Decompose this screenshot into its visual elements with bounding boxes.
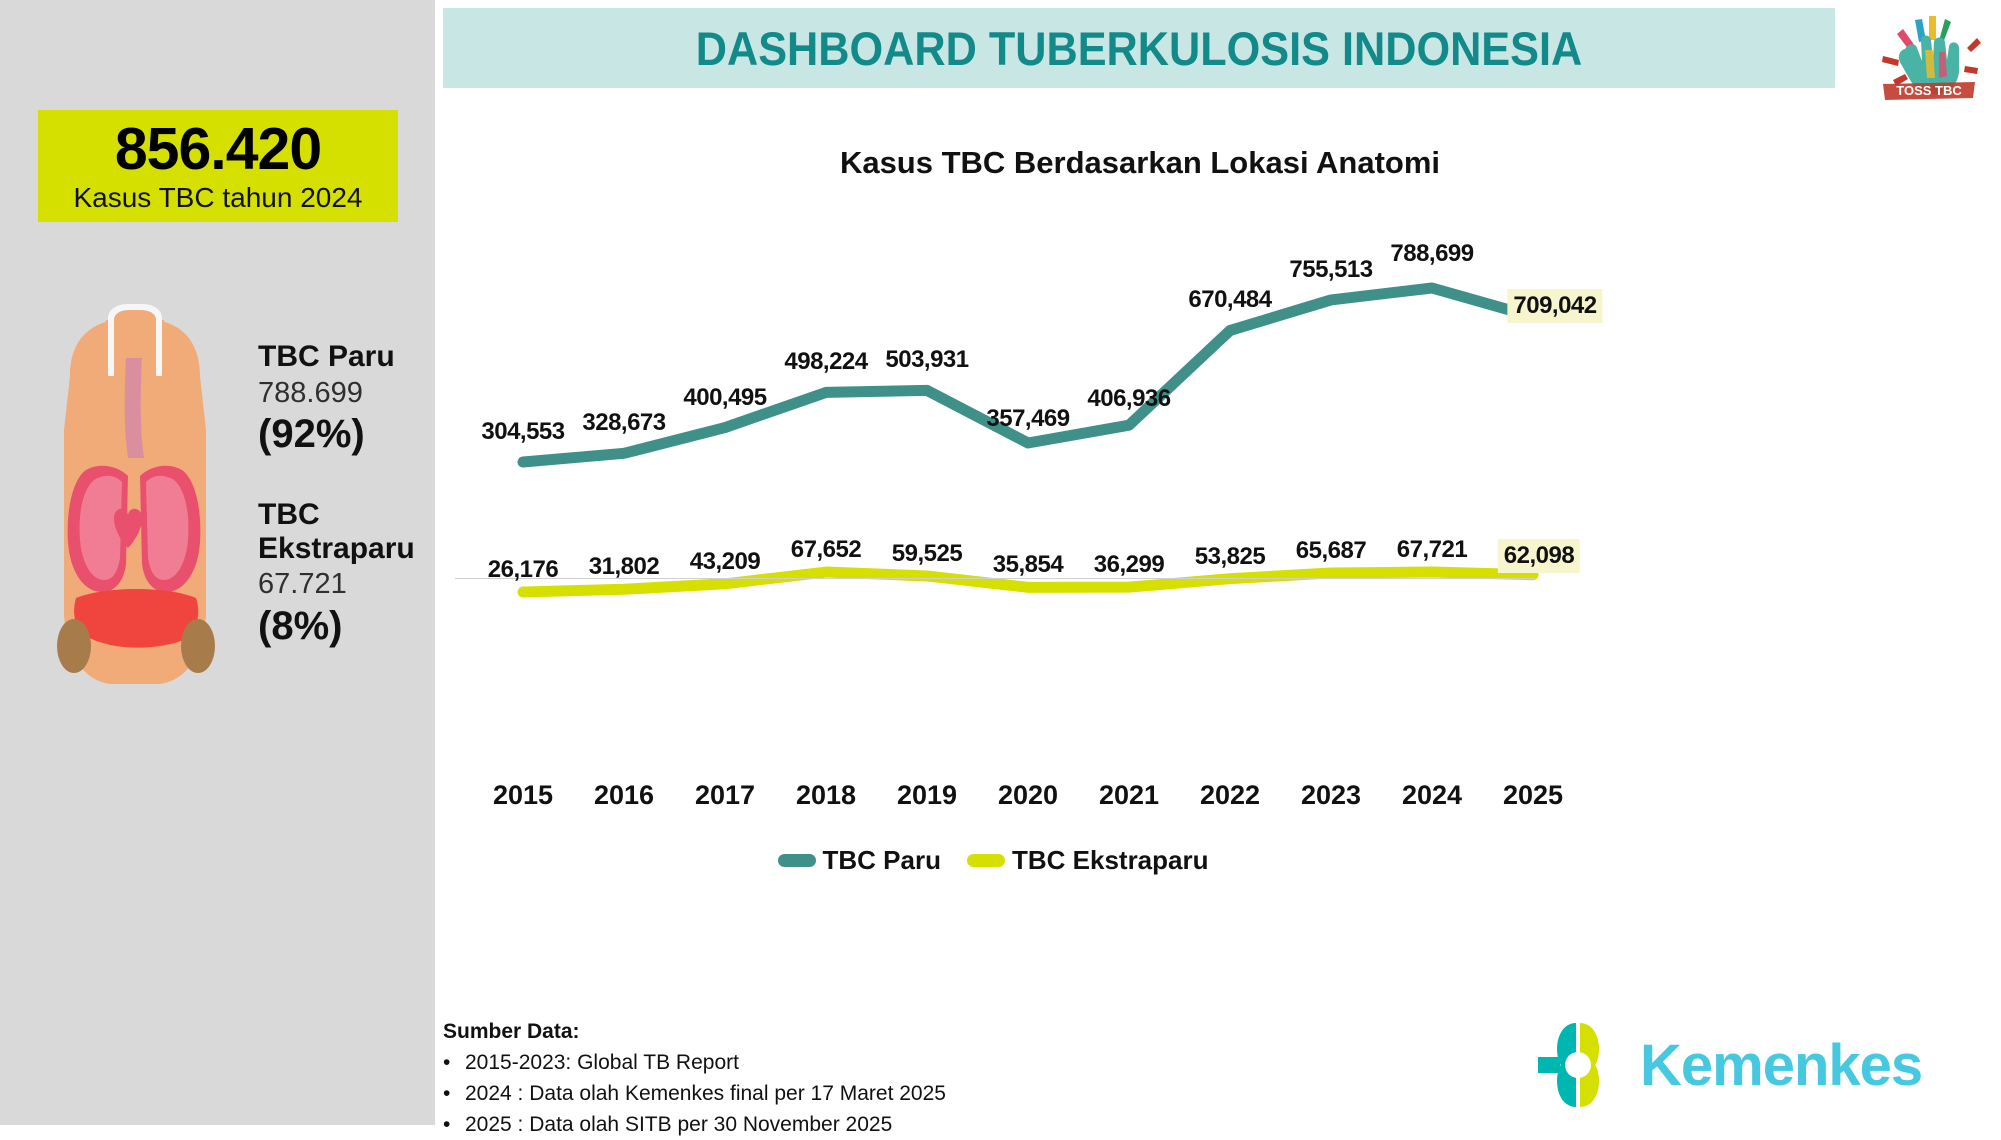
- page-title: DASHBOARD TUBERKULOSIS INDONESIA: [499, 8, 1780, 88]
- sidebar: 856.420 Kasus TBC tahun 2024 TBC Paru 78…: [0, 0, 435, 1125]
- data-label-tbc-paru-2022: 670,484: [1188, 286, 1271, 314]
- breakdown-paru-value: 788.699: [258, 376, 438, 411]
- data-label-tbc-paru-2021: 406,936: [1087, 385, 1170, 413]
- source-item-text: 2015-2023: Global TB Report: [465, 1047, 739, 1078]
- data-label-tbc-ekstraparu-2021: 36,299: [1094, 551, 1164, 579]
- data-label-tbc-ekstraparu-2016: 31,802: [589, 553, 659, 581]
- legend-item-tbc-ekstraparu[interactable]: TBC Ekstraparu: [967, 845, 1209, 876]
- source-item-text: 2024 : Data olah Kemenkes final per 17 M…: [465, 1078, 946, 1109]
- breakdown-paru-title: TBC Paru: [258, 340, 438, 374]
- data-label-tbc-paru-2016: 328,673: [582, 409, 665, 437]
- x-axis-label-2020: 2020: [998, 780, 1058, 811]
- x-axis-label-2025: 2025: [1503, 780, 1563, 811]
- human-torso-lungs-illustration: [10, 280, 260, 700]
- toss-tbc-hand-logo: TOSS TBC: [1875, 4, 1985, 109]
- data-label-tbc-paru-2015: 304,553: [481, 418, 564, 446]
- data-label-tbc-ekstraparu-2024: 67,721: [1397, 536, 1467, 564]
- x-axis-label-2021: 2021: [1099, 780, 1159, 811]
- kpi-caption: Kasus TBC tahun 2024: [73, 183, 362, 214]
- source-item: •2015-2023: Global TB Report: [443, 1047, 1343, 1078]
- svg-text:TOSS TBC: TOSS TBC: [1896, 83, 1962, 98]
- source-item: •2024 : Data olah Kemenkes final per 17 …: [443, 1078, 1343, 1109]
- data-label-tbc-ekstraparu-2017: 43,209: [690, 548, 760, 576]
- bullet-icon: •: [443, 1047, 465, 1078]
- data-label-tbc-ekstraparu-2025: 62,098: [1498, 539, 1580, 573]
- data-label-tbc-paru-2023: 755,513: [1289, 256, 1372, 284]
- data-label-tbc-paru-2020: 357,469: [986, 405, 1069, 433]
- chart-legend: TBC Paru TBC Ekstraparu: [443, 845, 1543, 876]
- source-data-block: Sumber Data: •2015-2023: Global TB Repor…: [443, 1020, 1343, 1140]
- kpi-number: 856.420: [115, 119, 321, 181]
- x-axis-label-2023: 2023: [1301, 780, 1361, 811]
- x-axis-label-2022: 2022: [1200, 780, 1260, 811]
- breakdown-ekstraparu-value: 67.721: [258, 567, 438, 602]
- source-list: •2015-2023: Global TB Report•2024 : Data…: [443, 1047, 1343, 1140]
- x-axis-label-2017: 2017: [695, 780, 755, 811]
- data-label-tbc-ekstraparu-2019: 59,525: [892, 540, 962, 568]
- data-label-tbc-paru-2017: 400,495: [683, 384, 766, 412]
- data-label-tbc-ekstraparu-2015: 26,176: [488, 556, 558, 584]
- x-axis-label-2015: 2015: [493, 780, 553, 811]
- series-line-tbc-paru: [523, 288, 1533, 462]
- kemenkes-logo: [1530, 1017, 1626, 1113]
- source-title: Sumber Data:: [443, 1020, 1343, 1044]
- breakdown-ekstraparu-percent: (8%): [258, 604, 438, 648]
- data-label-tbc-ekstraparu-2022: 53,825: [1195, 543, 1265, 571]
- breakdown-ekstraparu: TBC Ekstraparu 67.721 (8%): [258, 498, 438, 648]
- kemenkes-wordmark: Kemenkes: [1640, 1032, 1922, 1099]
- kemenkes-brand: Kemenkes: [1530, 1015, 1990, 1115]
- legend-swatch-tbc-paru: [778, 854, 816, 867]
- data-label-tbc-paru-2018: 498,224: [784, 348, 867, 376]
- data-label-tbc-paru-2024: 788,699: [1390, 240, 1473, 268]
- chart-title: Kasus TBC Berdasarkan Lokasi Anatomi: [560, 145, 1720, 181]
- x-axis-labels: 2015201620172018201920202021202220232024…: [443, 780, 1543, 820]
- x-axis-label-2016: 2016: [594, 780, 654, 811]
- legend-item-tbc-paru[interactable]: TBC Paru: [778, 845, 941, 876]
- x-axis-label-2018: 2018: [796, 780, 856, 811]
- kpi-badge: 856.420 Kasus TBC tahun 2024: [38, 110, 398, 222]
- bullet-icon: •: [443, 1078, 465, 1109]
- legend-swatch-tbc-ekstraparu: [967, 854, 1005, 867]
- breakdown-paru-percent: (92%): [258, 412, 438, 456]
- breakdown-ekstraparu-title: TBC Ekstraparu: [258, 498, 438, 565]
- breakdown-paru: TBC Paru 788.699 (92%): [258, 340, 438, 456]
- data-label-tbc-ekstraparu-2023: 65,687: [1296, 537, 1366, 565]
- x-axis-label-2019: 2019: [897, 780, 957, 811]
- x-axis-label-2024: 2024: [1402, 780, 1462, 811]
- data-label-tbc-ekstraparu-2018: 67,652: [791, 536, 861, 564]
- legend-label-tbc-paru: TBC Paru: [823, 845, 941, 876]
- data-label-tbc-ekstraparu-2020: 35,854: [993, 551, 1063, 579]
- data-label-tbc-paru-2019: 503,931: [885, 346, 968, 374]
- data-label-tbc-paru-2025: 709,042: [1507, 289, 1602, 323]
- legend-label-tbc-ekstraparu: TBC Ekstraparu: [1012, 845, 1209, 876]
